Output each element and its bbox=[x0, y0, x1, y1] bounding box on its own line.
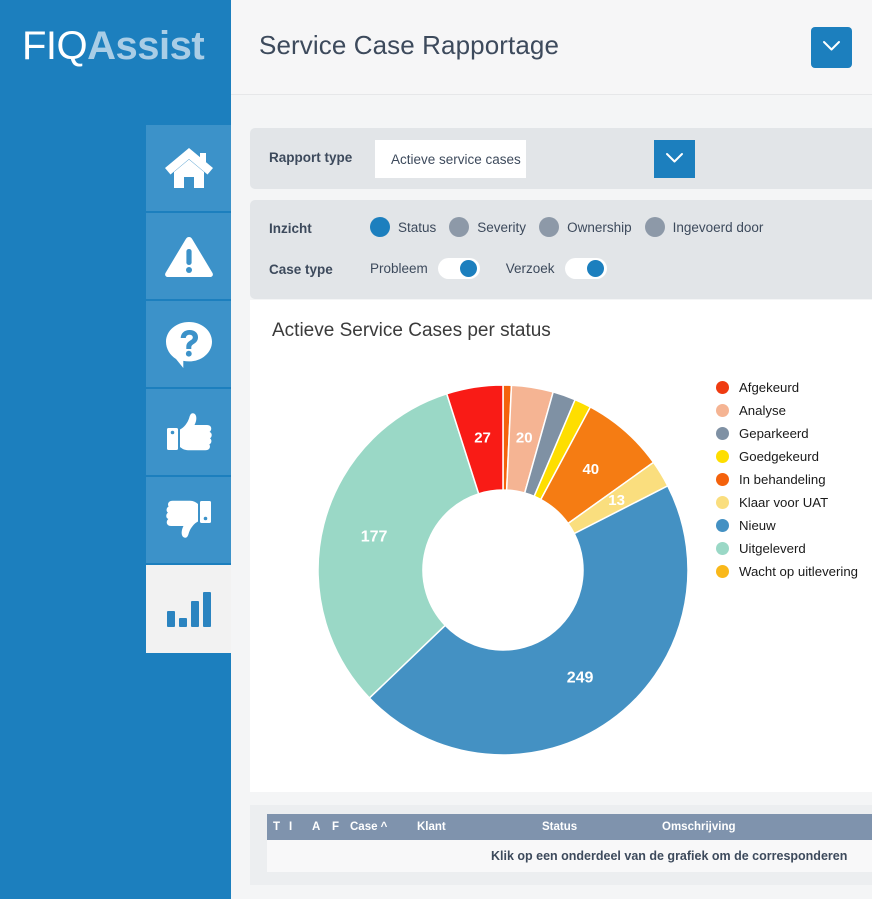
inzicht-radio-group: Status Severity Ownership Ingevoerd door bbox=[370, 217, 776, 237]
toggle-knob bbox=[587, 260, 604, 277]
header-expand-button[interactable] bbox=[811, 27, 852, 68]
thumbs-up-icon bbox=[163, 409, 215, 455]
sidebar-item-questions[interactable] bbox=[146, 301, 231, 389]
sidebar-item-incidents[interactable] bbox=[146, 213, 231, 301]
rapport-type-value: Actieve service cases bbox=[375, 152, 521, 167]
app-logo: FIQAssist bbox=[22, 22, 204, 70]
legend-swatch-icon bbox=[716, 404, 729, 417]
inzicht-label: Inzicht bbox=[269, 221, 312, 236]
chart-legend: AfgekeurdAnalyseGeparkeerdGoedgekeurdIn … bbox=[716, 376, 872, 583]
cases-table-panel: T I A F Case ^ Klant Status Omschrijving… bbox=[250, 805, 872, 885]
legend-swatch-icon bbox=[716, 519, 729, 532]
case-type-label: Case type bbox=[269, 262, 333, 277]
radio-label: Ingevoerd door bbox=[673, 220, 764, 235]
chevron-down-icon bbox=[665, 152, 684, 167]
sidebar-item-reports[interactable] bbox=[146, 565, 231, 653]
legend-item[interactable]: Geparkeerd bbox=[716, 422, 872, 445]
donut-slice-label: 20 bbox=[516, 430, 533, 447]
radio-dot-icon bbox=[370, 217, 390, 237]
donut-slice-label: 13 bbox=[608, 492, 625, 509]
radio-option-status[interactable]: Status bbox=[370, 217, 436, 237]
legend-swatch-icon bbox=[716, 542, 729, 555]
table-column-t[interactable]: T bbox=[267, 821, 289, 833]
thumbs-down-icon bbox=[163, 497, 215, 543]
filters-panel: Inzicht Status Severity Ownership Ingevo… bbox=[250, 200, 872, 299]
legend-label: Analyse bbox=[739, 403, 786, 418]
radio-option-ownership[interactable]: Ownership bbox=[539, 217, 632, 237]
toggle-verzoek[interactable] bbox=[565, 258, 607, 279]
legend-item[interactable]: Goedgekeurd bbox=[716, 445, 872, 468]
sidebar: FIQAssist bbox=[0, 0, 231, 899]
legend-item[interactable]: Afgekeurd bbox=[716, 376, 872, 399]
toggle-group-verzoek: Verzoek bbox=[506, 258, 607, 279]
sidebar-nav bbox=[146, 125, 231, 653]
top-bar: Service Case Rapportage bbox=[231, 0, 872, 95]
table-empty-hint: Klik op een onderdeel van de grafiek om … bbox=[267, 849, 847, 863]
radio-label: Status bbox=[398, 220, 436, 235]
radio-dot-icon bbox=[645, 217, 665, 237]
legend-item[interactable]: Nieuw bbox=[716, 514, 872, 537]
rapport-type-dropdown-button[interactable] bbox=[654, 140, 695, 178]
rapport-type-select[interactable]: Actieve service cases bbox=[375, 140, 526, 178]
rapport-type-label: Rapport type bbox=[269, 150, 352, 165]
legend-item[interactable]: Analyse bbox=[716, 399, 872, 422]
legend-label: Wacht op uitlevering bbox=[739, 564, 858, 579]
table-column-omschrijving[interactable]: Omschrijving bbox=[662, 821, 872, 833]
donut-slice-label: 249 bbox=[567, 670, 594, 687]
chart-panel: Actieve Service Cases per status 2040132… bbox=[250, 300, 872, 792]
legend-swatch-icon bbox=[716, 565, 729, 578]
legend-label: Klaar voor UAT bbox=[739, 495, 828, 510]
toggle-label: Verzoek bbox=[506, 261, 555, 276]
legend-item[interactable]: In behandeling bbox=[716, 468, 872, 491]
toggle-probleem[interactable] bbox=[438, 258, 480, 279]
donut-slice-label: 27 bbox=[474, 430, 491, 447]
sidebar-item-thumbs-up[interactable] bbox=[146, 389, 231, 477]
warning-triangle-icon bbox=[163, 233, 215, 279]
table-column-case[interactable]: Case ^ bbox=[350, 821, 417, 833]
donut-chart[interactable]: 20401324917727 bbox=[318, 385, 688, 755]
radio-dot-icon bbox=[449, 217, 469, 237]
toggle-label: Probleem bbox=[370, 261, 428, 276]
donut-slice-label: 177 bbox=[361, 528, 388, 545]
sidebar-item-home[interactable] bbox=[146, 125, 231, 213]
table-column-i[interactable]: I bbox=[289, 821, 312, 833]
toggle-knob bbox=[460, 260, 477, 277]
table-header-row: T I A F Case ^ Klant Status Omschrijving bbox=[267, 814, 872, 840]
legend-item[interactable]: Uitgeleverd bbox=[716, 537, 872, 560]
logo-part-1: FIQ bbox=[22, 24, 87, 68]
legend-swatch-icon bbox=[716, 473, 729, 486]
legend-swatch-icon bbox=[716, 450, 729, 463]
legend-label: Nieuw bbox=[739, 518, 776, 533]
legend-label: Uitgeleverd bbox=[739, 541, 806, 556]
table-column-f[interactable]: F bbox=[332, 821, 350, 833]
logo-part-2: Assist bbox=[87, 24, 204, 68]
sidebar-item-thumbs-down[interactable] bbox=[146, 477, 231, 565]
legend-item[interactable]: Klaar voor UAT bbox=[716, 491, 872, 514]
chevron-down-icon bbox=[822, 40, 841, 55]
rapport-type-panel: Rapport type Actieve service cases bbox=[250, 128, 872, 189]
legend-swatch-icon bbox=[716, 496, 729, 509]
question-bubble-icon bbox=[163, 319, 215, 369]
home-icon bbox=[163, 145, 215, 191]
cases-table: T I A F Case ^ Klant Status Omschrijving… bbox=[267, 814, 872, 872]
radio-dot-icon bbox=[539, 217, 559, 237]
legend-swatch-icon bbox=[716, 381, 729, 394]
table-column-a[interactable]: A bbox=[312, 821, 332, 833]
table-column-klant[interactable]: Klant bbox=[417, 821, 542, 833]
radio-label: Ownership bbox=[567, 220, 632, 235]
radio-option-severity[interactable]: Severity bbox=[449, 217, 526, 237]
table-empty-row: Klik op een onderdeel van de grafiek om … bbox=[267, 840, 872, 872]
legend-label: Goedgekeurd bbox=[739, 449, 819, 464]
case-type-toggle-group: Probleem Verzoek bbox=[370, 258, 633, 279]
legend-label: Geparkeerd bbox=[739, 426, 809, 441]
legend-item[interactable]: Wacht op uitlevering bbox=[716, 560, 872, 583]
radio-option-ingevoerd-door[interactable]: Ingevoerd door bbox=[645, 217, 764, 237]
main-content: Service Case Rapportage Rapport type Act… bbox=[231, 0, 872, 899]
app-root: FIQAssist bbox=[0, 0, 872, 899]
toggle-group-probleem: Probleem bbox=[370, 258, 480, 279]
table-column-status[interactable]: Status bbox=[542, 821, 662, 833]
legend-label: In behandeling bbox=[739, 472, 826, 487]
donut-chart-svg[interactable]: 20401324917727 bbox=[318, 385, 688, 755]
chart-title: Actieve Service Cases per status bbox=[272, 320, 551, 342]
bar-chart-icon bbox=[165, 589, 213, 629]
page-title: Service Case Rapportage bbox=[259, 30, 559, 61]
legend-swatch-icon bbox=[716, 427, 729, 440]
radio-label: Severity bbox=[477, 220, 526, 235]
legend-label: Afgekeurd bbox=[739, 380, 799, 395]
donut-slice-label: 40 bbox=[582, 461, 599, 478]
